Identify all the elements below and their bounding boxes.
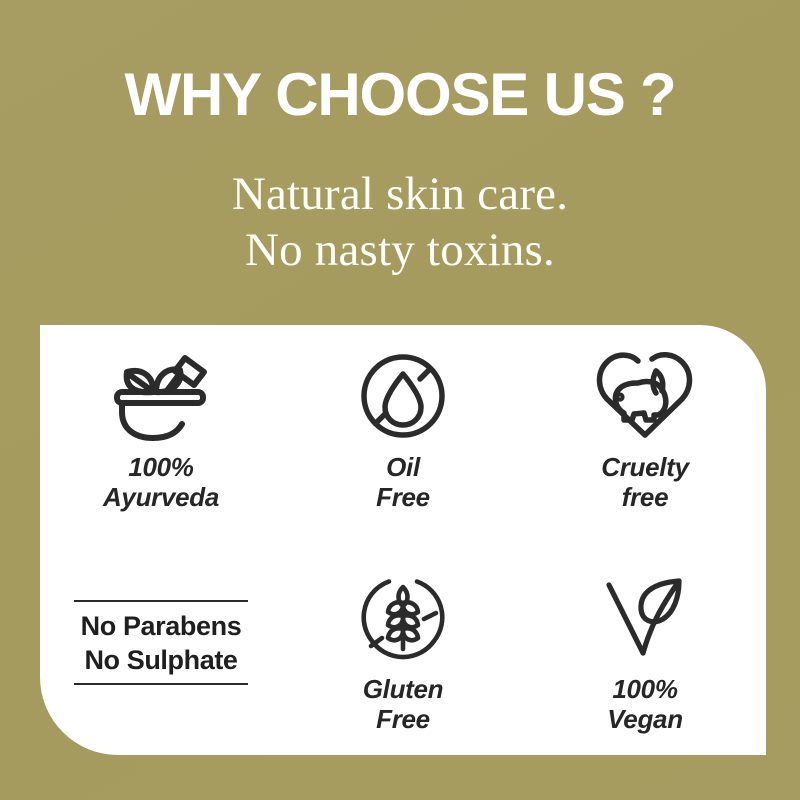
feature-label-line-2: Free [376, 482, 430, 512]
feature-item-no-parabens: No Parabens No Sulphate [40, 540, 282, 755]
heart-rabbit-icon [594, 348, 696, 444]
features-card: 100% Ayurveda Oil [40, 325, 766, 755]
vegan-leaf-v-icon [599, 570, 691, 666]
feature-label-vegan: 100% Vegan [607, 674, 683, 734]
feature-item-ayurveda: 100% Ayurveda [40, 325, 282, 540]
feature-label-ayurveda: 100% Ayurveda [103, 452, 219, 512]
feature-label-line-2: Free [363, 704, 444, 734]
page-subtitle: Natural skin care. No nasty toxins. [0, 166, 800, 278]
subtitle-line-1: Natural skin care. [232, 168, 568, 220]
feature-label-line-1: Cruelty [601, 452, 688, 482]
mortar-and-pestle-icon [109, 348, 213, 444]
divider-bottom [74, 683, 248, 685]
feature-label-cruelty-free: Cruelty free [601, 452, 688, 512]
feature-item-cruelty-free: Cruelty free [524, 325, 766, 540]
features-grid: 100% Ayurveda Oil [40, 325, 766, 755]
feature-label-line-1: No Parabens [81, 611, 242, 641]
feature-label-line-2: free [601, 482, 688, 512]
no-wheat-icon [358, 570, 448, 666]
feature-item-gluten-free: Gluten Free [282, 540, 524, 755]
feature-label-line-2: Ayurveda [103, 482, 219, 512]
feature-label-line-1: 100% [612, 674, 677, 704]
feature-label-line-1: 100% [128, 452, 193, 482]
feature-item-vegan: 100% Vegan [524, 540, 766, 755]
promo-graphic: WHY CHOOSE US ? Natural skin care. No na… [0, 0, 800, 800]
no-parabens-block: No Parabens No Sulphate [74, 600, 248, 685]
subtitle-line-2: No nasty toxins. [0, 222, 800, 278]
feature-label-line-1: Gluten [363, 674, 444, 704]
feature-label-line-2: No Sulphate [81, 643, 242, 677]
feature-label-no-parabens: No Parabens No Sulphate [81, 602, 242, 683]
no-oil-droplet-icon [357, 348, 449, 444]
feature-label-oil-free: Oil Free [376, 452, 430, 512]
feature-label-line-1: Oil [386, 452, 420, 482]
feature-label-gluten-free: Gluten Free [363, 674, 444, 734]
feature-label-line-2: Vegan [607, 704, 683, 734]
feature-item-oil-free: Oil Free [282, 325, 524, 540]
page-title: WHY CHOOSE US ? [0, 62, 800, 128]
